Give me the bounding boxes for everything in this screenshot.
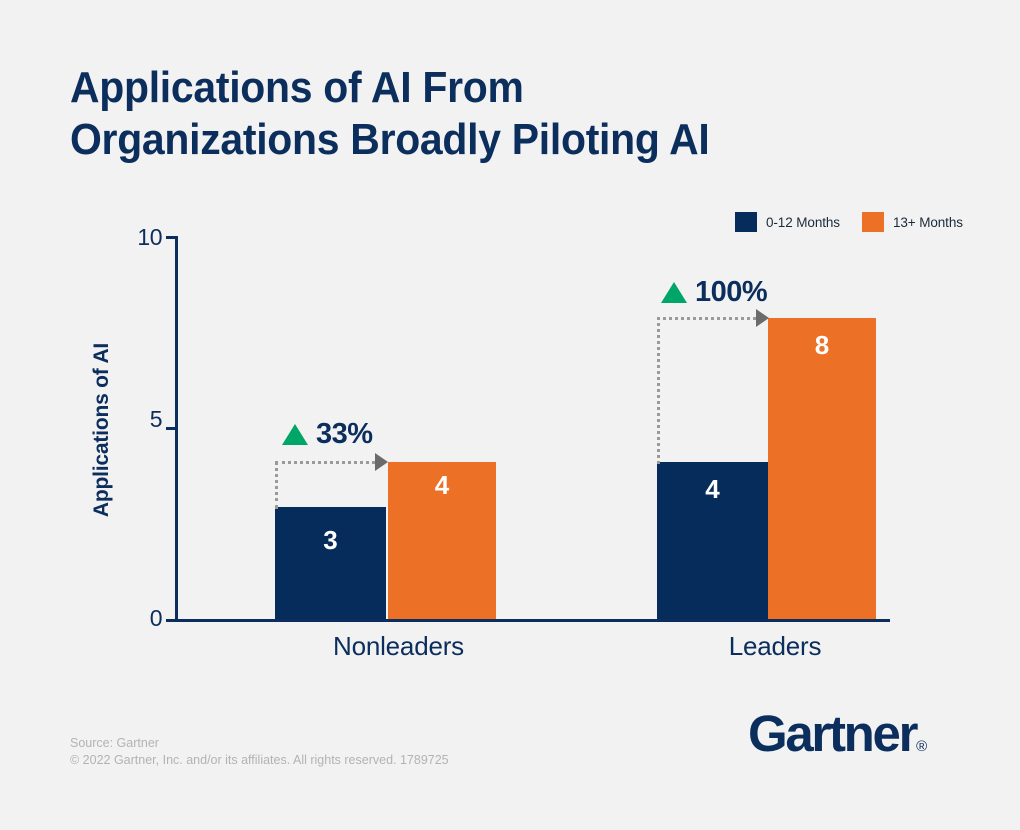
growth-annotation-nonleaders: 33% bbox=[282, 418, 373, 451]
bar-value-label: 4 bbox=[657, 474, 768, 505]
bar-value-label: 8 bbox=[768, 330, 876, 361]
y-tick-label-5: 5 bbox=[122, 406, 162, 433]
y-tick-10 bbox=[166, 236, 177, 239]
footer-attribution: Source: Gartner © 2022 Gartner, Inc. and… bbox=[70, 735, 449, 769]
y-tick-5 bbox=[166, 427, 177, 430]
bar-leaders-13-plus-months: 8 bbox=[768, 318, 876, 619]
connector-horizontal-leaders bbox=[657, 317, 756, 320]
connector-horizontal-nonleaders bbox=[275, 461, 375, 464]
footer-copyright: © 2022 Gartner, Inc. and/or its affiliat… bbox=[70, 752, 449, 769]
up-triangle-icon bbox=[661, 282, 687, 303]
bar-nonleaders-0-12-months: 3 bbox=[275, 507, 386, 619]
x-axis-line bbox=[175, 619, 890, 622]
x-axis-category-nonleaders: Nonleaders bbox=[286, 631, 511, 662]
connector-vertical-leaders bbox=[657, 317, 660, 464]
y-tick-label-10: 10 bbox=[122, 224, 162, 251]
growth-value-label: 100% bbox=[695, 276, 767, 309]
connector-arrowhead-nonleaders bbox=[375, 453, 388, 471]
chart-canvas: Applications of AI From Organizations Br… bbox=[0, 0, 1020, 830]
connector-arrowhead-leaders bbox=[756, 309, 769, 327]
bar-nonleaders-13-plus-months: 4 bbox=[388, 462, 496, 619]
bar-leaders-0-12-months: 4 bbox=[657, 462, 768, 619]
y-tick-0 bbox=[166, 619, 177, 622]
registered-mark-icon: ® bbox=[916, 738, 927, 755]
footer-source: Source: Gartner bbox=[70, 735, 449, 752]
growth-annotation-leaders: 100% bbox=[661, 276, 767, 309]
gartner-logo: Gartner® bbox=[748, 708, 927, 773]
y-axis-title: Applications of AI bbox=[90, 300, 114, 560]
bar-value-label: 3 bbox=[275, 525, 386, 556]
gartner-logo-text: Gartner bbox=[748, 705, 916, 762]
x-axis-category-leaders: Leaders bbox=[655, 631, 895, 662]
up-triangle-icon bbox=[282, 424, 308, 445]
bar-value-label: 4 bbox=[388, 470, 496, 501]
connector-vertical-nonleaders bbox=[275, 461, 278, 509]
growth-value-label: 33% bbox=[316, 418, 373, 451]
y-tick-label-0: 0 bbox=[122, 605, 162, 632]
